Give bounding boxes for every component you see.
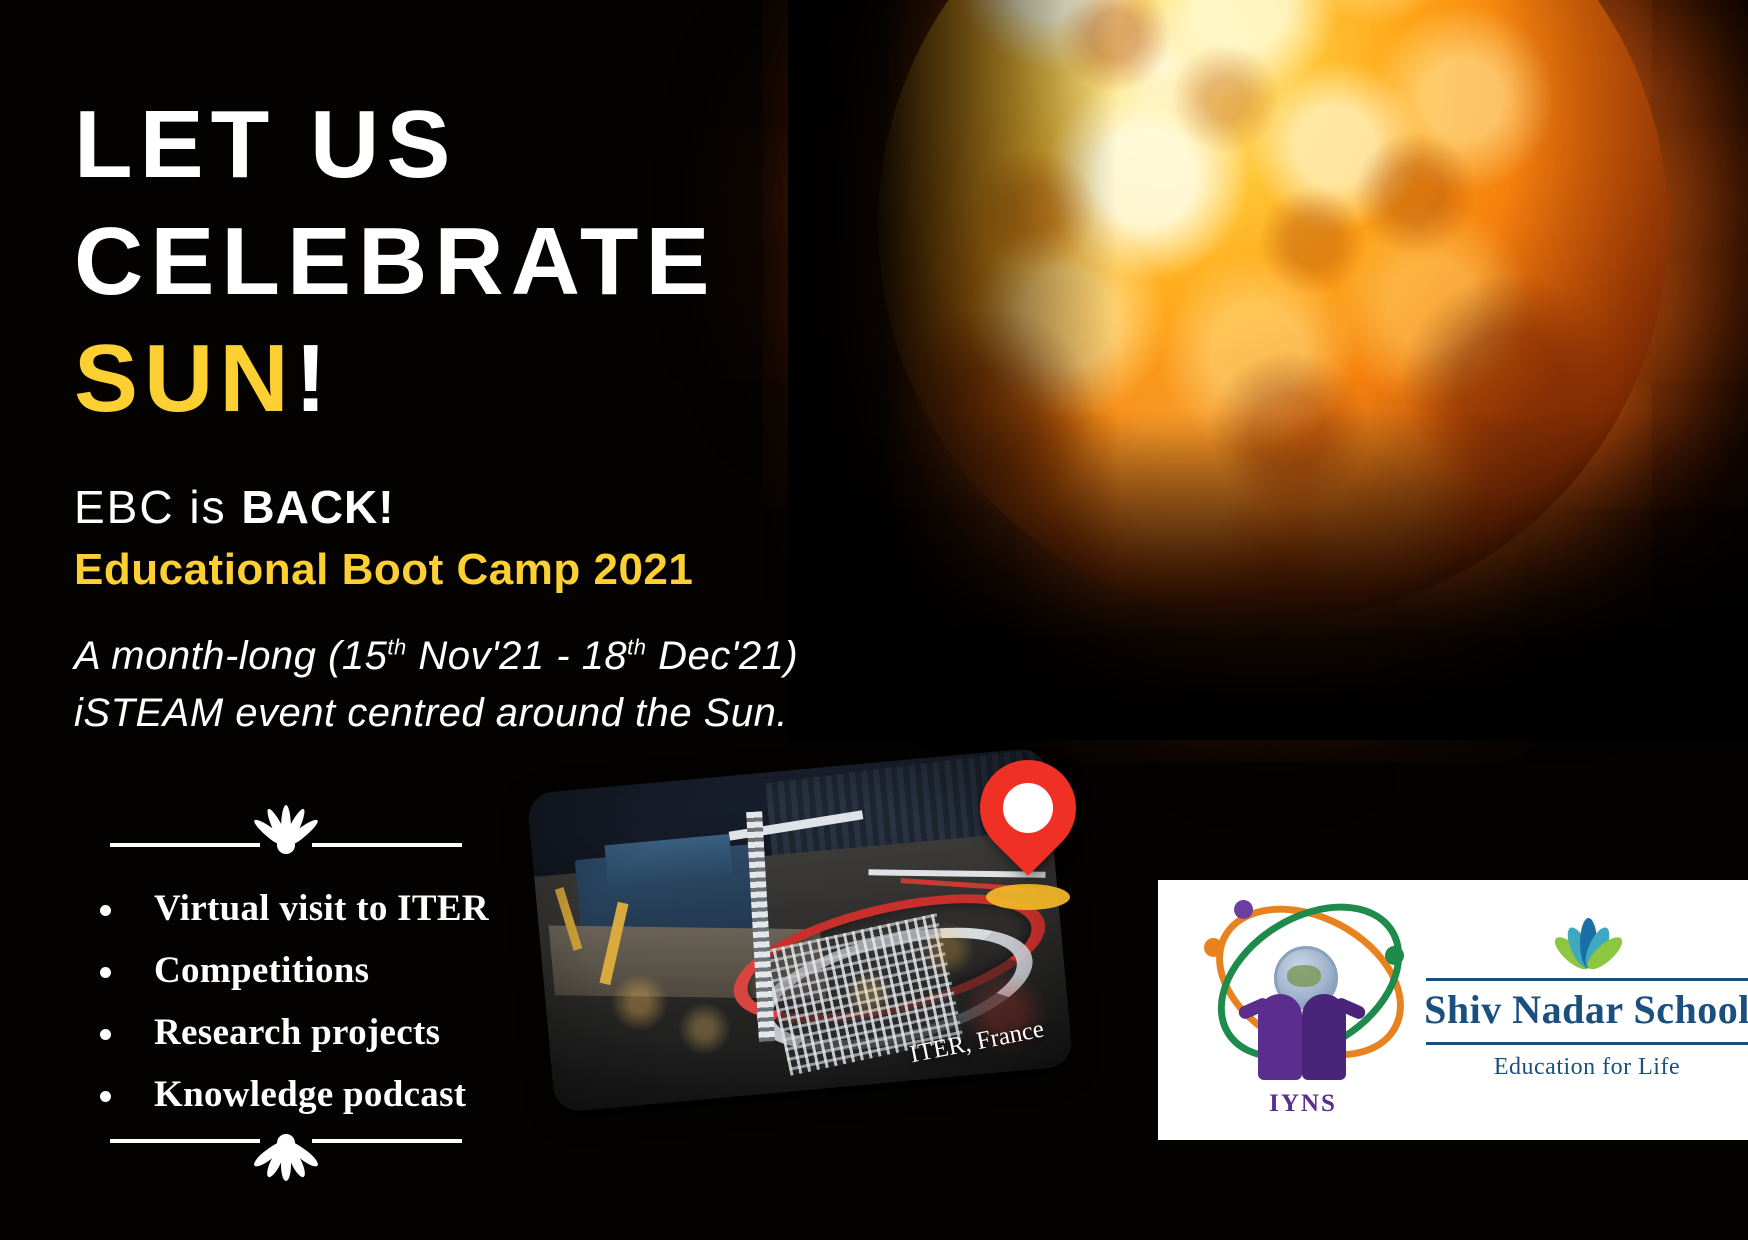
atom-node-orange-icon (1204, 938, 1223, 957)
atom-node-green-icon (1385, 946, 1404, 965)
list-item: Research projects (92, 1014, 572, 1051)
pin-inner-circle (1003, 783, 1053, 833)
divider-bar-right (312, 843, 462, 847)
subtitle-prefix: EBC is (74, 481, 241, 533)
logo-rule-top (1426, 978, 1748, 981)
sunburst-center-dot (277, 836, 295, 854)
headline-line-2: CELEBRATE (74, 203, 974, 320)
iyns-logo: IYNS (1198, 894, 1408, 1124)
figure-left (1258, 994, 1302, 1080)
headline-block: LET US CELEBRATE SUN! (74, 86, 974, 437)
headline-line-1: LET US (74, 86, 974, 203)
features-list: Virtual visit to ITER Competitions Resea… (92, 890, 572, 1138)
pin-base-shadow (986, 884, 1070, 910)
headline-exclamation: ! (295, 325, 333, 432)
divider-bar-left (110, 843, 260, 847)
figure-right (1302, 994, 1346, 1080)
logo-rule-bottom (1426, 1042, 1748, 1045)
description-sup-1: th (387, 635, 406, 660)
logo-panel: IYNS Shiv Nadar School Education for Lif… (1158, 880, 1748, 1140)
location-pin-icon (972, 760, 1084, 910)
iyns-acronym: IYNS (1198, 1090, 1408, 1118)
sunburst-center-dot (277, 1134, 295, 1152)
school-name: Shiv Nadar School (1422, 986, 1748, 1033)
description-part-2: Nov'21 - 18 (407, 634, 627, 678)
list-item: Competitions (92, 952, 572, 989)
poster-canvas: LET US CELEBRATE SUN! EBC is BACK! Educa… (0, 0, 1748, 1240)
divider-top-sunburst (110, 812, 462, 878)
atom-node-purple-icon (1234, 900, 1253, 919)
subtitle-emphasis: BACK! (241, 481, 394, 533)
school-tagline: Education for Life (1422, 1054, 1748, 1081)
shiv-nadar-school-logo: Shiv Nadar School Education for Life (1422, 902, 1748, 1117)
divider-bar-left (110, 1139, 260, 1143)
headline-line-3: SUN! (74, 320, 974, 437)
description-part-1: A month-long (15 (74, 634, 387, 678)
subtitle-ebc: EBC is BACK! (74, 480, 395, 534)
lotus-icon (1540, 902, 1636, 972)
list-item: Virtual visit to ITER (92, 890, 572, 927)
description-sup-2: th (627, 635, 646, 660)
event-description: A month-long (15th Nov'21 - 18th Dec'21)… (74, 628, 954, 742)
divider-bar-right (312, 1139, 462, 1143)
program-title: Educational Boot Camp 2021 (74, 545, 693, 595)
divider-bottom-sunburst (110, 1108, 462, 1174)
headline-sun-word: SUN (74, 325, 295, 432)
